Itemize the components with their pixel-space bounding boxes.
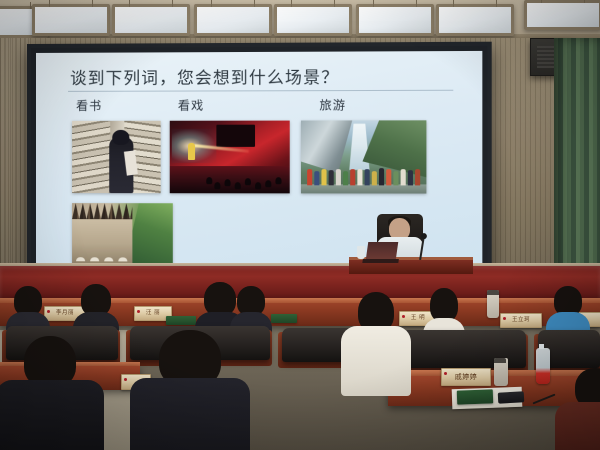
slide-word-label-2: 看戏 <box>178 97 204 114</box>
bookshelf-left <box>72 121 110 193</box>
person-reading <box>109 137 133 193</box>
water-cup <box>357 246 365 259</box>
audience-torso <box>341 326 411 396</box>
audience-torso <box>130 378 250 450</box>
stage-performer <box>188 143 195 160</box>
ceiling-light-fixture <box>32 4 110 36</box>
patio-umbrella <box>90 257 99 261</box>
thermos-tumbler <box>494 358 508 386</box>
green-notebook <box>457 389 493 404</box>
ceiling-light-fixture <box>194 4 272 36</box>
waterfall-tour-group-photo <box>301 120 426 193</box>
library-bookshelves-photo <box>72 121 161 193</box>
window-curtain <box>554 38 600 290</box>
audience-member-foreground <box>0 336 100 450</box>
slide-word-label-3: 旅游 <box>319 96 346 113</box>
audience-member-foreground <box>130 330 250 450</box>
thermos-tumbler <box>487 290 499 318</box>
thatched-roofline <box>72 203 132 219</box>
resort-hillside-photo <box>72 203 173 266</box>
green-notebook <box>166 316 196 325</box>
water-bottle <box>536 348 550 384</box>
audience-torso <box>0 380 104 450</box>
ceiling-light-fixture <box>524 0 600 30</box>
tourist-crowd <box>301 165 426 185</box>
ceiling-light-fixture <box>436 4 514 36</box>
patio-umbrella <box>118 257 127 261</box>
theatre-seating <box>170 166 290 193</box>
ceiling-light-fixture <box>112 4 190 36</box>
audience-torso <box>555 402 600 450</box>
laptop[interactable] <box>366 242 399 260</box>
audience-member <box>548 286 588 334</box>
audience-head <box>430 288 458 322</box>
name-placard: 王立珂 <box>500 313 542 328</box>
name-placard: 戚婷婷 <box>441 368 491 386</box>
title-divider <box>68 90 453 92</box>
green-notebook <box>271 314 297 323</box>
lecture-room-photo: 谈到下列词，您会想到什么场景？ 看书 看戏 旅游 <box>0 0 600 450</box>
patio-umbrella <box>104 257 113 261</box>
slide-word-label-1: 看书 <box>76 97 102 114</box>
audience-member <box>76 284 116 332</box>
patio-umbrella <box>76 257 85 261</box>
ceiling-light-fixture <box>356 4 434 36</box>
theatre-stage-audience-photo <box>170 121 290 194</box>
riverbank <box>301 184 426 193</box>
presenter <box>355 214 465 272</box>
ceiling-light-fixture <box>274 4 352 36</box>
smartphone[interactable] <box>498 391 525 403</box>
audience-member-foreground <box>560 368 600 450</box>
audience-member <box>424 288 464 334</box>
audience-member-foreground <box>340 292 412 382</box>
theatre-backdrop <box>216 125 255 147</box>
left-wall <box>0 38 30 288</box>
slide-title: 谈到下列词，您会想到什么场景？ <box>70 64 339 89</box>
